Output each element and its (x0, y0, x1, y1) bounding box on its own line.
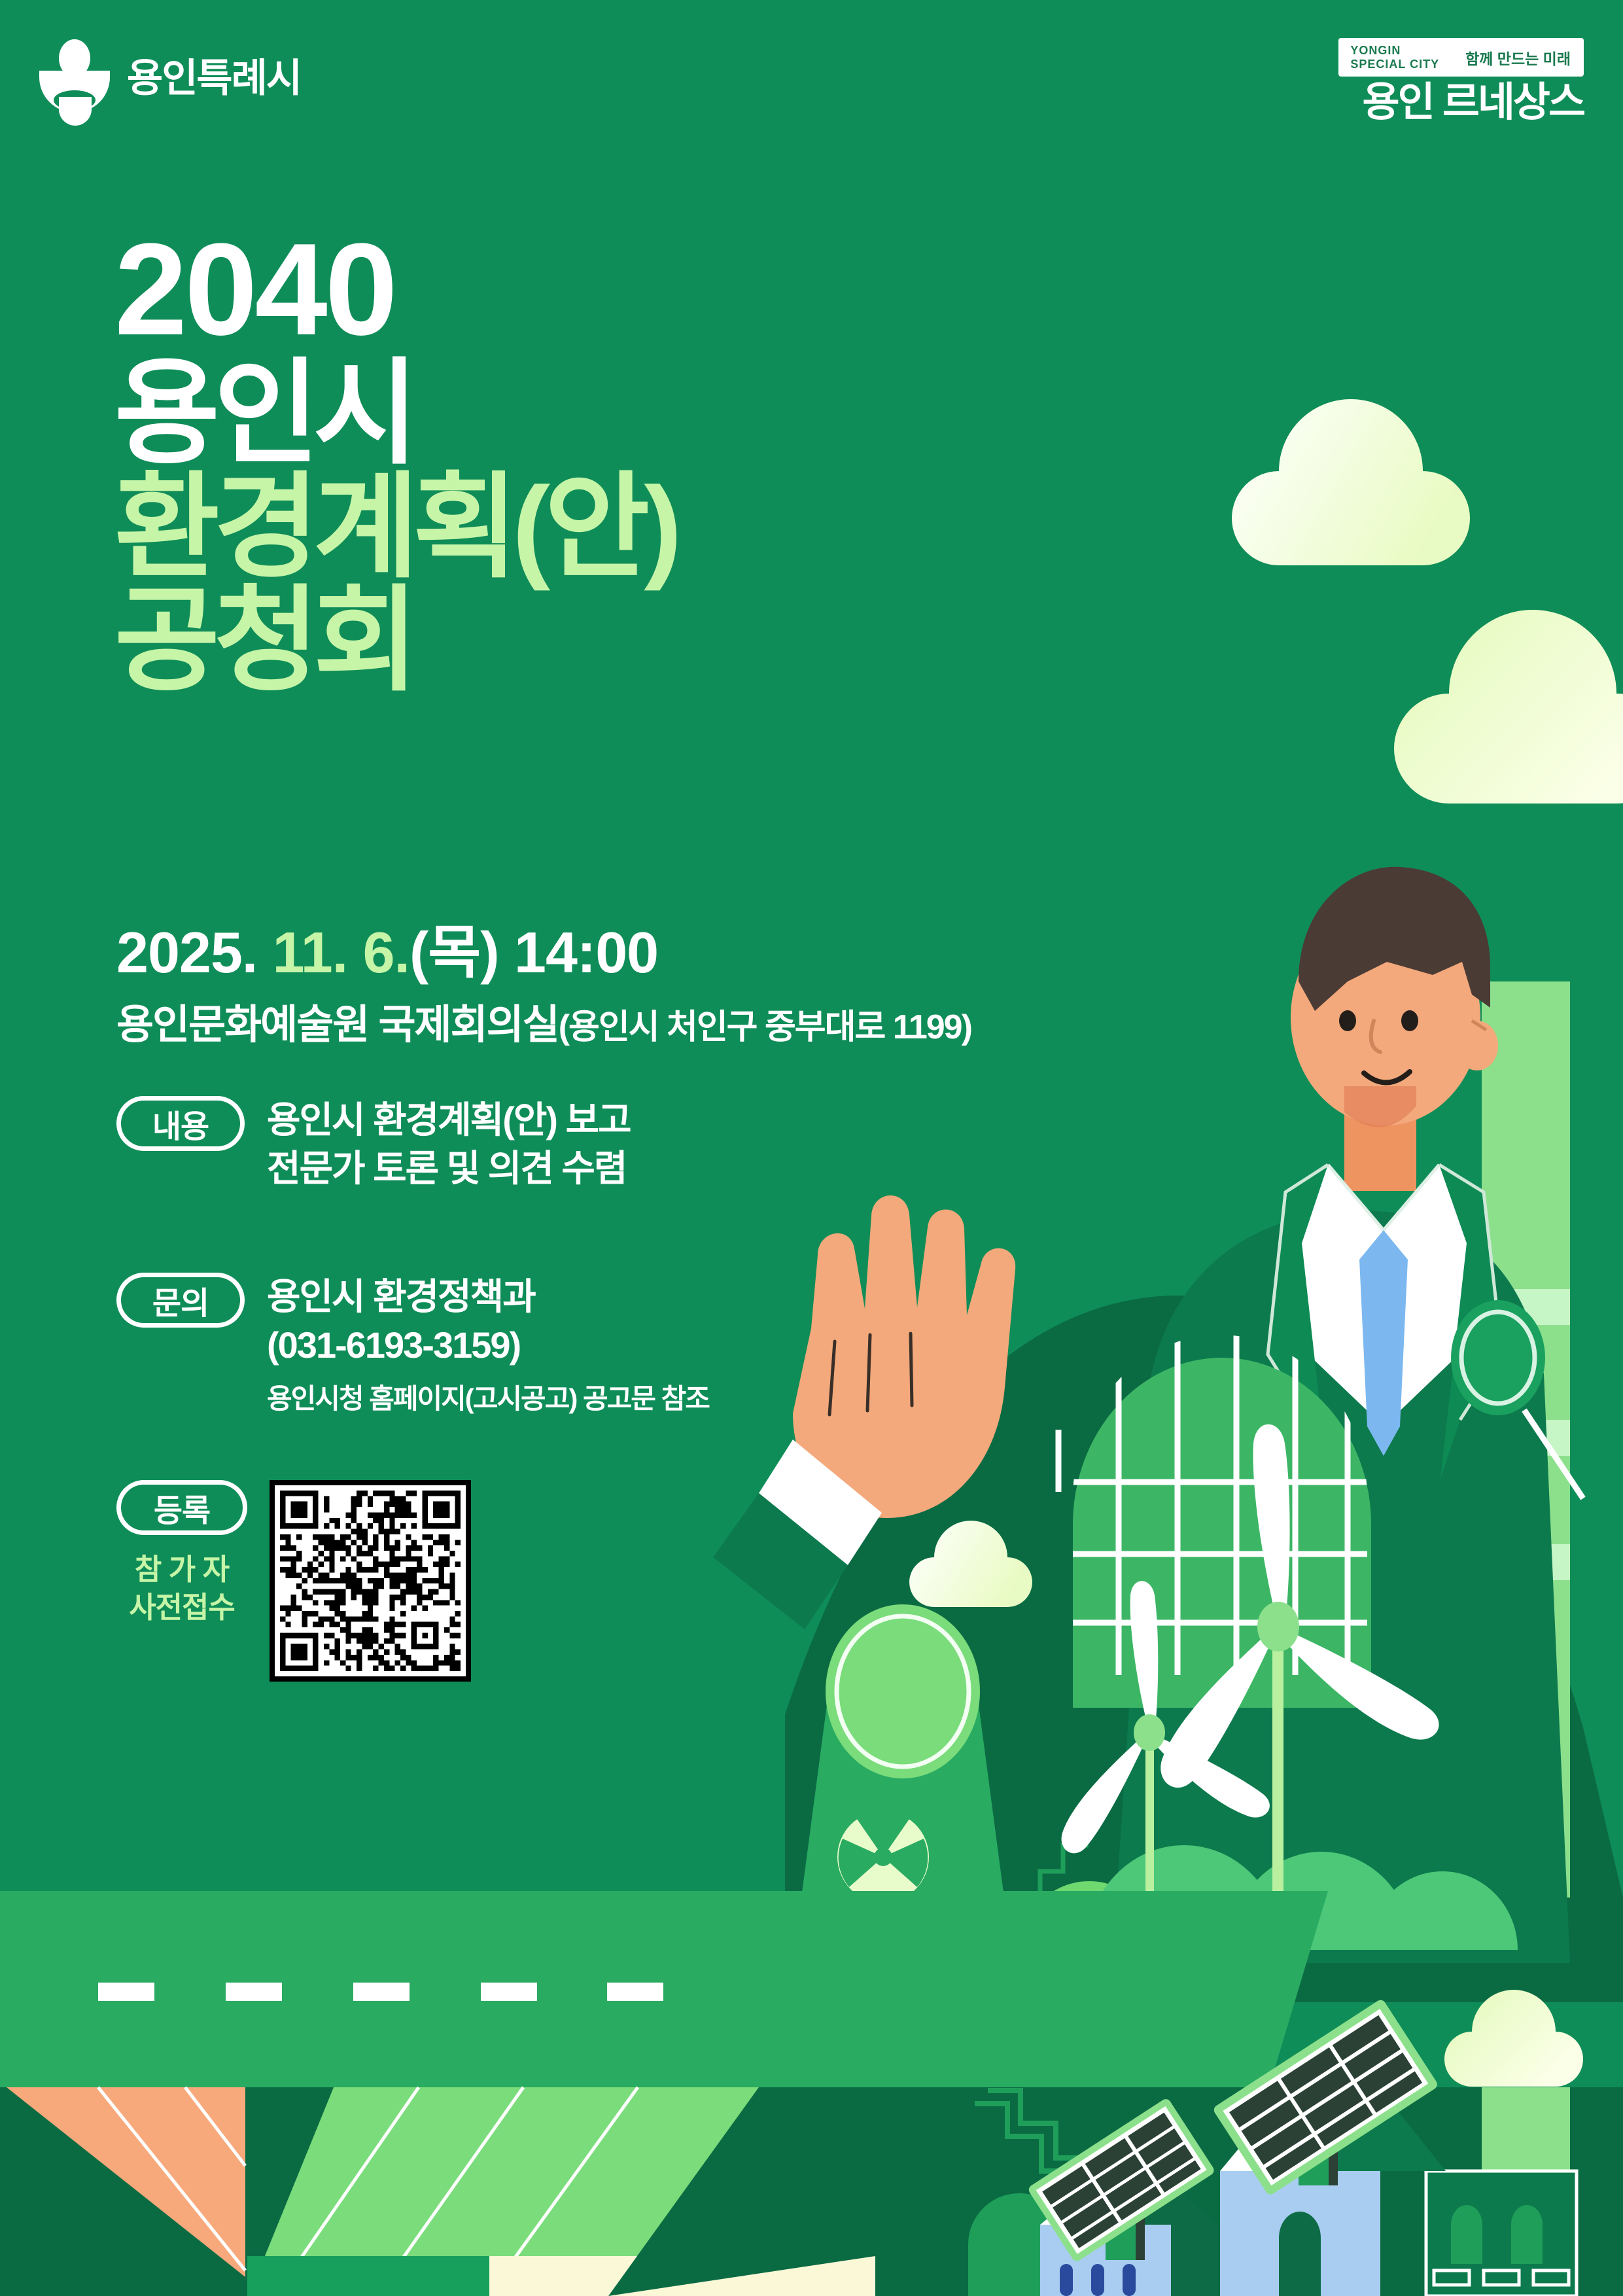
brand-slogan-label: 함께 만드는 미래 (1465, 46, 1571, 69)
cloud-icon (909, 1521, 1032, 1607)
qr-code[interactable] (270, 1480, 471, 1682)
date-suffix: (목) 14:00 (410, 920, 658, 985)
city-logo: 용인특례시 (39, 39, 301, 110)
title-year: 2040 (114, 226, 676, 354)
solar-house-icon (968, 1998, 1577, 2296)
contact-department: 용인시 환경정책과 (267, 1273, 709, 1321)
register-subtext: 참 가 자 사전접수 (116, 1551, 247, 1626)
wind-turbine-icon (1062, 1581, 1270, 1963)
waving-businessman-figure (1112, 867, 1570, 1963)
qr-code-image (280, 1491, 461, 1671)
contact-phone: (031-6193-3159) (267, 1321, 709, 1369)
cooling-tower-icon (801, 1604, 1004, 1903)
title-plan: 환경계획(안) (114, 472, 676, 584)
cloud-icon (1394, 610, 1623, 804)
register-subline1: 참 가 자 (116, 1551, 247, 1589)
content-text: 용인시 환경계획(안) 보고 전문가 토론 및 의견 수렴 (267, 1096, 631, 1193)
section-content: 내용 용인시 환경계획(안) 보고 전문가 토론 및 의견 수렴 (116, 1096, 631, 1193)
raised-hand-icon (713, 1195, 1015, 1629)
page-title: 2040 용인시 환경계획(안) 공청회 (114, 226, 676, 698)
badge-content: 내용 (116, 1096, 245, 1151)
contact-text: 용인시 환경정책과 (031-6193-3159) 용인시청 홈페이지(고시공고… (267, 1273, 709, 1417)
date-highlight: 11. 6. (273, 920, 410, 985)
city-logo-label: 용인특례시 (127, 46, 301, 103)
brand-slogan-bar: YONGIN SPECIAL CITY 함께 만드는 미래 (1338, 38, 1584, 77)
section-register: 등록 참 가 자 사전접수 (116, 1480, 471, 1682)
venue-main: 용인문화예술원 국제회의실 (116, 1002, 559, 1048)
venue-address: (용인시 처인구 중부대로 1199) (559, 1008, 971, 1046)
yongin-emblem-icon (39, 39, 110, 110)
event-venue: 용인문화예술원 국제회의실(용인시 처인구 중부대로 1199) (116, 991, 971, 1050)
cloud-icon (1232, 399, 1470, 565)
contact-note: 용인시청 홈페이지(고시공고) 공고문 참조 (267, 1377, 709, 1417)
content-line1: 용인시 환경계획(안) 보고 (267, 1096, 631, 1144)
brand-block: YONGIN SPECIAL CITY 함께 만드는 미래 용인 르네상스 (1338, 38, 1584, 123)
title-hearing: 공청회 (114, 585, 676, 698)
event-datetime: 2025. 11. 6.(목) 14:00 (116, 906, 658, 989)
poster-canvas: 용인특례시 YONGIN SPECIAL CITY 함께 만드는 미래 용인 르… (0, 0, 1623, 2296)
register-left: 등록 참 가 자 사전접수 (116, 1480, 247, 1626)
brand-main-label: 용인 르네상스 (1338, 82, 1584, 123)
wind-turbine-icon (1161, 1424, 1439, 1963)
badge-contact: 문의 (116, 1273, 245, 1328)
title-city: 용인시 (114, 358, 676, 470)
solar-dome-icon (1047, 1335, 1400, 1714)
content-line2: 전문가 토론 및 의견 수렴 (267, 1144, 631, 1193)
radiation-symbol-icon (837, 1810, 929, 1903)
bush-icon (968, 1845, 1518, 1950)
brand-en-line2: SPECIAL CITY (1350, 58, 1439, 71)
badge-register: 등록 (116, 1480, 247, 1535)
brand-en-label: YONGIN SPECIAL CITY (1350, 44, 1439, 71)
register-subline2: 사전접수 (116, 1589, 247, 1627)
road-icon (0, 1891, 1328, 2087)
cloud-icon (1444, 1990, 1583, 2087)
section-contact: 문의 용인시 환경정책과 (031-6193-3159) 용인시청 홈페이지(고… (116, 1273, 709, 1417)
brand-en-line1: YONGIN (1350, 44, 1439, 58)
date-prefix: 2025. (116, 920, 273, 985)
